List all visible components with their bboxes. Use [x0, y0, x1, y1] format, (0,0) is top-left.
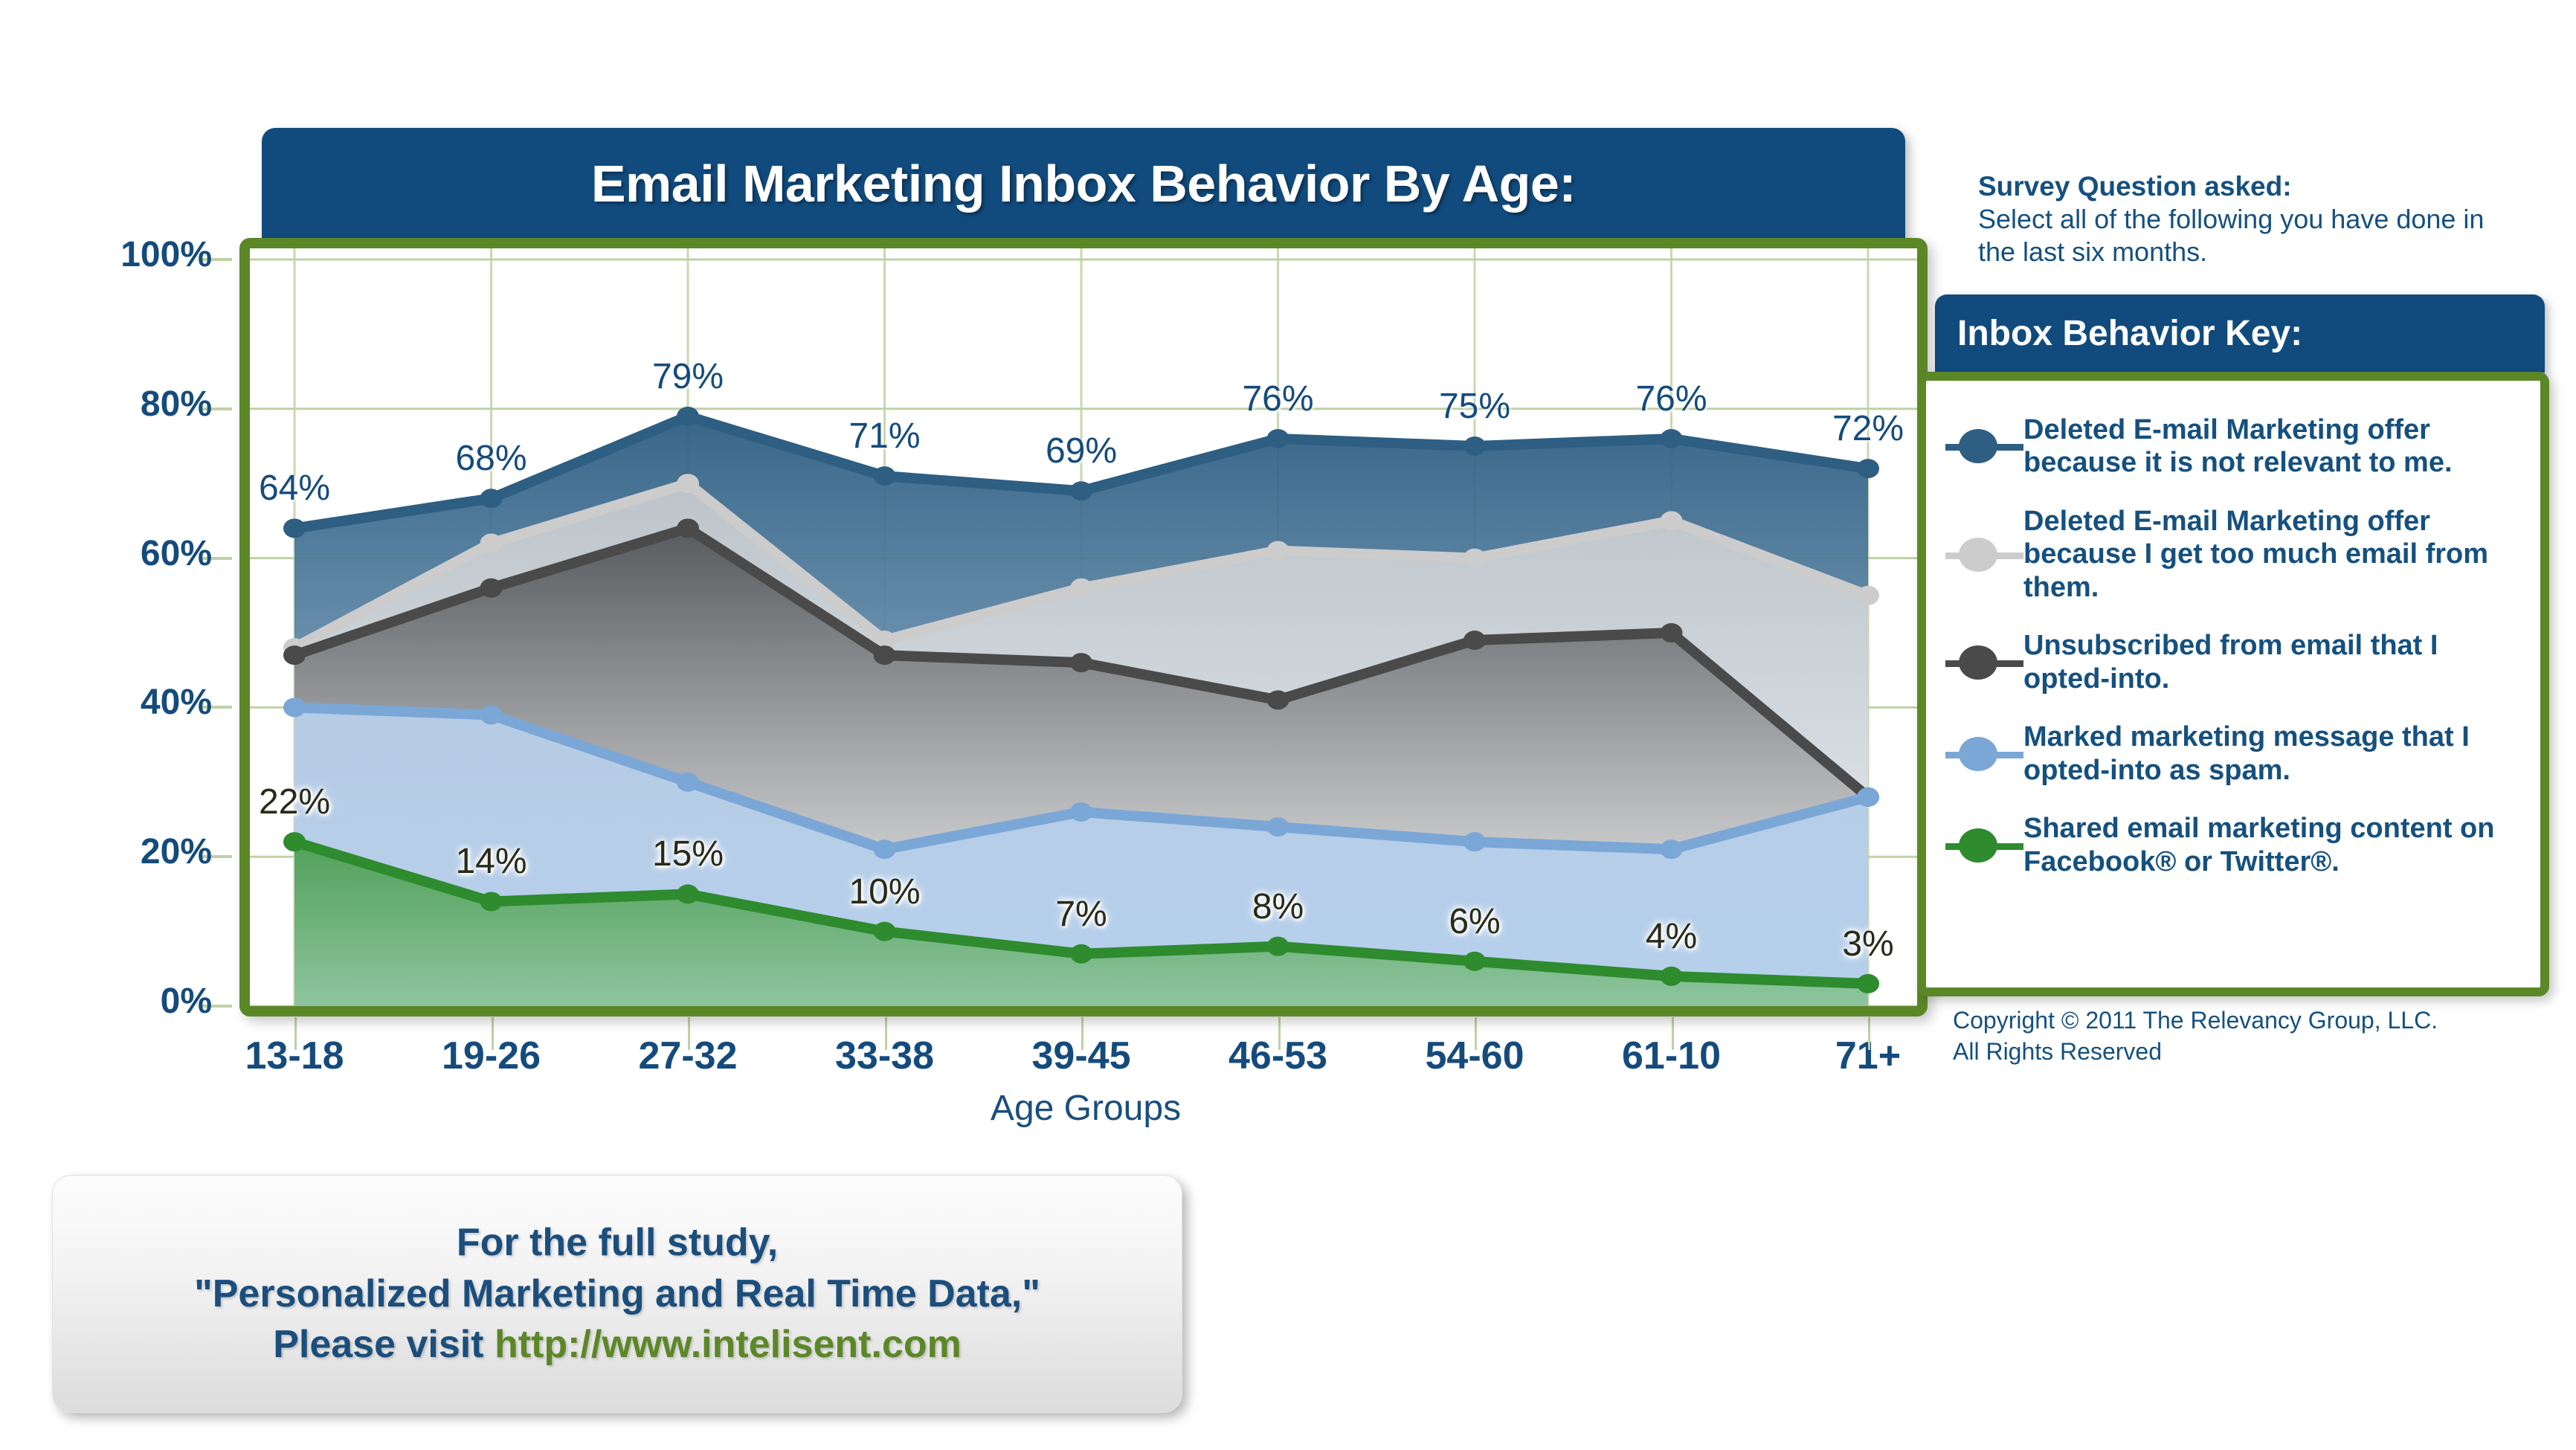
- y-tick-80%: 80%: [19, 384, 212, 425]
- y-tick-60%: 60%: [19, 533, 212, 574]
- data-label-series0-point0: 64%: [259, 468, 330, 509]
- x-tick-mark: [885, 1017, 887, 1050]
- legend-item-1[interactable]: Deleted E-mail Marketing offer because I…: [1945, 505, 2521, 604]
- data-label-series4-point0: 22%: [259, 782, 330, 822]
- cta-visit-prefix: Please visit: [273, 1323, 495, 1366]
- x-tick-mark: [1081, 1017, 1083, 1050]
- x-tick-mark: [1475, 1017, 1477, 1050]
- x-tick-mark: [492, 1017, 494, 1050]
- y-tick-0%: 0%: [19, 981, 212, 1022]
- legend-item-label-1: Deleted E-mail Marketing offer because I…: [2023, 505, 2521, 604]
- x-tick-mark: [688, 1017, 690, 1050]
- chart-title-banner: Email Marketing Inbox Behavior By Age:: [262, 128, 1905, 239]
- x-tick-mark: [1868, 1017, 1870, 1050]
- legend-dot: [1959, 645, 1997, 680]
- legend-dot-marked-spam-icon: [1945, 732, 2023, 776]
- legend-box: Deleted E-mail Marketing offer because i…: [1917, 372, 2549, 996]
- legend-dot: [1959, 538, 1997, 572]
- data-label-series0-point6: 75%: [1439, 386, 1510, 427]
- data-label-series4-point6: 6%: [1449, 901, 1500, 942]
- x-tick-mark: [1672, 1017, 1674, 1050]
- legend-dot: [1959, 828, 1997, 863]
- data-label-series4-point8: 3%: [1842, 924, 1893, 964]
- legend-dot-shared-icon: [1945, 823, 2023, 868]
- y-tick-40%: 40%: [19, 682, 212, 723]
- data-label-series4-point2: 15%: [652, 834, 724, 874]
- legend-item-label-4: Shared email marketing content on Facebo…: [2023, 812, 2521, 878]
- cta-line-2: "Personalized Marketing and Real Time Da…: [194, 1269, 1040, 1320]
- legend-item-4[interactable]: Shared email marketing content on Facebo…: [1945, 812, 2521, 878]
- data-label-series4-point4: 7%: [1055, 894, 1107, 935]
- cta-line-3: Please visit http://www.intelisent.com: [273, 1319, 962, 1370]
- legend-dot-deleted-not-relevant-icon: [1945, 424, 2023, 468]
- data-label-series4-point7: 4%: [1646, 916, 1697, 957]
- x-tick-mark: [1278, 1017, 1281, 1050]
- legend-dot: [1959, 429, 1997, 463]
- page-title: Email Marketing Inbox Behavior By Age:: [591, 154, 1576, 213]
- data-label-series4-point1: 14%: [455, 841, 527, 882]
- area-chart-svg: [250, 248, 1917, 1006]
- data-label-series0-point8: 72%: [1832, 408, 1904, 449]
- data-label-series0-point3: 71%: [849, 416, 920, 457]
- data-label-series0-point7: 76%: [1635, 378, 1707, 419]
- x-tick-mark: [294, 1017, 297, 1050]
- legend-dot-deleted-too-much-icon: [1945, 532, 2023, 577]
- legend-banner: Inbox Behavior Key:: [1935, 294, 2545, 373]
- data-label-series4-point5: 8%: [1252, 886, 1304, 927]
- legend-dot: [1959, 737, 1997, 771]
- legend-item-label-2: Unsubscribed from email that I opted-int…: [2023, 629, 2521, 695]
- y-tick-100%: 100%: [19, 234, 212, 275]
- survey-question-heading: Survey Question asked:: [1978, 170, 2499, 203]
- survey-question: Survey Question asked: Select all of the…: [1978, 170, 2499, 268]
- copyright-line-1: Copyright © 2011 The Relevancy Group, LL…: [1953, 1005, 2518, 1037]
- legend-item-0[interactable]: Deleted E-mail Marketing offer because i…: [1945, 413, 2521, 480]
- copyright-notice: Copyright © 2011 The Relevancy Group, LL…: [1953, 1005, 2518, 1067]
- x-axis-label: Age Groups: [863, 1088, 1309, 1129]
- survey-question-body: Select all of the following you have don…: [1978, 203, 2499, 268]
- data-label-series0-point4: 69%: [1046, 431, 1117, 471]
- copyright-line-2: All Rights Reserved: [1953, 1037, 2518, 1068]
- legend-dot-unsubscribed-icon: [1945, 640, 2023, 685]
- legend-item-2[interactable]: Unsubscribed from email that I opted-int…: [1945, 629, 2521, 695]
- cta-line-1: For the full study,: [457, 1217, 778, 1269]
- data-label-series0-point2: 79%: [652, 356, 724, 397]
- study-url-link[interactable]: http://www.intelisent.com: [495, 1323, 962, 1366]
- legend-item-label-3: Marked marketing message that I opted-in…: [2023, 721, 2521, 787]
- data-label-series0-point1: 68%: [455, 438, 527, 479]
- legend-item-3[interactable]: Marked marketing message that I opted-in…: [1945, 721, 2521, 787]
- legend-heading: Inbox Behavior Key:: [1935, 313, 2302, 354]
- data-label-series0-point5: 76%: [1242, 378, 1313, 419]
- full-study-callout: For the full study, "Personalized Market…: [52, 1175, 1182, 1413]
- data-label-series4-point3: 10%: [849, 871, 920, 912]
- infographic-page: Email Marketing Inbox Behavior By Age: P…: [0, 0, 2576, 1450]
- y-tick-20%: 20%: [19, 831, 212, 872]
- legend-item-label-0: Deleted E-mail Marketing offer because i…: [2023, 413, 2521, 480]
